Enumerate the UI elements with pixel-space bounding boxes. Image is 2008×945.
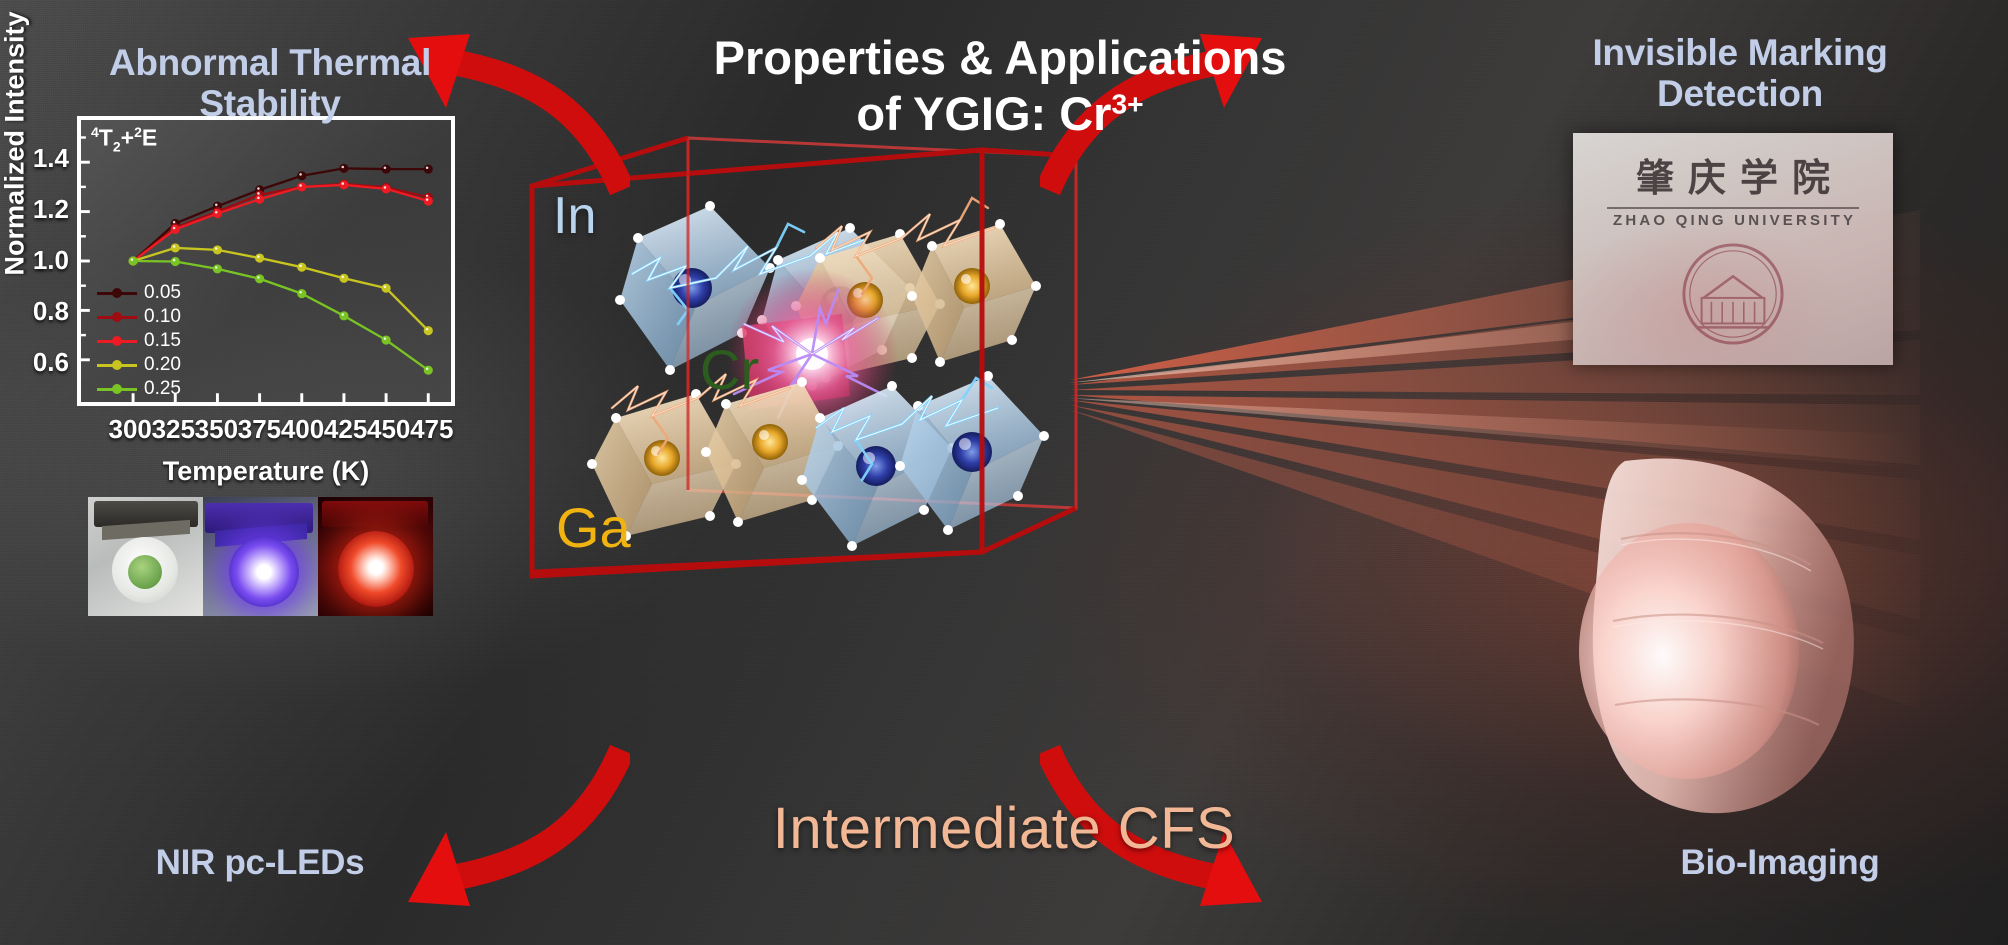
chart-legend-label: 0.15 <box>144 330 181 352</box>
chart-legend-item: 0.05 <box>97 282 181 304</box>
chart-point <box>298 263 306 271</box>
chart-point <box>171 257 179 265</box>
heading-line-1: Abnormal Thermal <box>20 42 520 83</box>
heading-line-1: Invisible Marking <box>1500 32 1980 73</box>
center-title: Properties & Applications of YGIG: Cr3+ <box>620 30 1380 143</box>
chart-legend-swatch <box>97 340 137 343</box>
marking-chinese-title: 肇庆学院 <box>1573 147 1893 202</box>
chart-x-tick-label: 475 <box>397 414 467 445</box>
chart-point <box>213 246 221 254</box>
chart-point <box>340 312 348 320</box>
center-title-superscript: 3+ <box>1111 88 1143 120</box>
center-title-line-2-text: of YGIG: Cr <box>856 87 1111 140</box>
center-title-line-1: Properties & Applications <box>620 30 1380 86</box>
chart-legend-swatch <box>97 388 137 391</box>
chart-point <box>255 195 263 203</box>
led-photo-red-emission <box>318 497 433 616</box>
chart-legend-label: 0.10 <box>144 306 181 328</box>
chart-legend-marker <box>112 312 122 322</box>
chart-legend-marker <box>112 336 122 346</box>
chart-legend-swatch <box>97 316 137 319</box>
led-photo-blue-excitation <box>203 497 318 616</box>
chart-point <box>213 209 221 217</box>
chart-point <box>298 290 306 298</box>
chart-legend-swatch <box>97 364 137 367</box>
chart-legend-label: 0.25 <box>144 378 181 400</box>
center-title-line-2: of YGIG: Cr3+ <box>620 86 1380 142</box>
chart-legend-marker <box>112 384 122 394</box>
heading-line-2: Detection <box>1500 73 1980 114</box>
chart-point <box>424 366 432 374</box>
chart-y-tick-label: 1.0 <box>0 245 69 276</box>
chart-legend-item: 0.20 <box>97 354 181 376</box>
chart-point <box>340 274 348 282</box>
chart-point <box>171 244 179 252</box>
chart-point <box>382 336 390 344</box>
chart-legend-item: 0.25 <box>97 378 181 400</box>
chart-legend-marker <box>112 288 122 298</box>
heading-invisible-marking-detection: Invisible Marking Detection <box>1500 32 1980 115</box>
chart-point <box>255 275 263 283</box>
marking-english-title: ZHAO QING UNIVERSITY <box>1573 212 1893 229</box>
heading-line-2: Stability <box>20 83 520 124</box>
chart-point <box>340 164 348 172</box>
chart-point <box>298 172 306 180</box>
marking-divider <box>1607 207 1859 209</box>
chart-point <box>382 185 390 193</box>
heading-abnormal-thermal-stability: Abnormal Thermal Stability <box>20 42 520 125</box>
chart-y-tick-label: 0.6 <box>0 347 69 378</box>
chart-x-axis-label: Temperature (K) <box>77 456 455 487</box>
thermal-stability-chart: 4T2+2E 0.050.100.150.200.25 <box>77 116 455 406</box>
chart-legend-item: 0.15 <box>97 330 181 352</box>
label-ga: Ga <box>556 495 631 560</box>
chart-legend-label: 0.20 <box>144 354 181 376</box>
chart-point <box>171 225 179 233</box>
chart-point <box>255 254 263 262</box>
nir-pcled-photos <box>88 497 433 616</box>
chart-y-tick-label: 0.8 <box>0 296 69 327</box>
university-seal-icon <box>1674 241 1792 347</box>
invisible-marking-photo: 肇庆学院 ZHAO QING UNIVERSITY <box>1573 133 1893 365</box>
chart-point <box>424 327 432 335</box>
bio-imaging-photo <box>1565 455 1895 835</box>
chart-legend-swatch <box>97 292 137 295</box>
marking-photo-surface: 肇庆学院 ZHAO QING UNIVERSITY <box>1573 133 1893 365</box>
heading-bio-imaging: Bio-Imaging <box>1600 843 1960 882</box>
heading-line-1: Bio-Imaging <box>1600 843 1960 882</box>
graphical-abstract: Abnormal Thermal Stability Normalized In… <box>0 0 2008 945</box>
chart-point <box>340 181 348 189</box>
led-photo-off <box>88 497 203 616</box>
chart-legend-marker <box>112 360 122 370</box>
chart-y-tick-label: 1.2 <box>0 194 69 225</box>
chart-point <box>382 284 390 292</box>
chart-point <box>298 183 306 191</box>
chart-legend-item: 0.10 <box>97 306 181 328</box>
chart-y-tick-label: 1.4 <box>0 143 69 174</box>
chart-legend-label: 0.05 <box>144 282 181 304</box>
chart-point <box>129 257 137 265</box>
chart-point <box>382 165 390 173</box>
chart-point <box>213 265 221 273</box>
label-cr: Cr <box>700 337 759 402</box>
